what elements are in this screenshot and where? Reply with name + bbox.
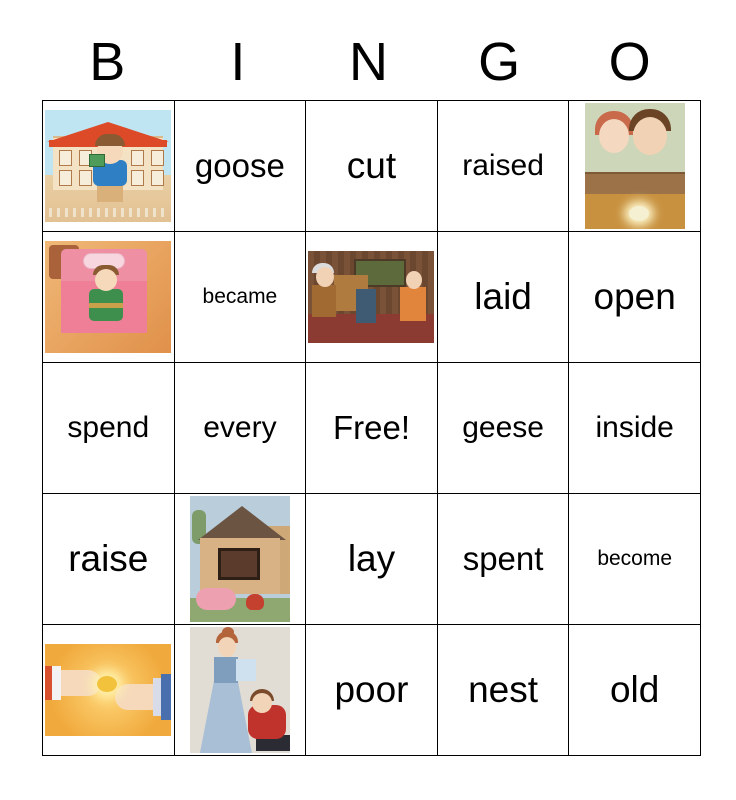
bingo-cell-g2[interactable]: laid	[437, 232, 569, 363]
bingo-row: spend every Free! geese	[43, 363, 701, 494]
bingo-cell-b5[interactable]	[43, 625, 175, 756]
bingo-cell-word: became	[175, 286, 306, 308]
bingo-cell-word: cut	[306, 147, 437, 186]
bingo-cell-word: spend	[43, 412, 174, 444]
bingo-cell-word: goose	[175, 149, 306, 184]
bingo-card: B I N G O	[42, 24, 695, 756]
bingo-cell-word: spent	[438, 542, 569, 577]
barn-with-pig-and-hen-image	[190, 496, 290, 622]
bingo-cell-i3[interactable]: every	[174, 363, 306, 494]
bingo-cell-o5[interactable]: old	[569, 625, 701, 756]
bingo-free-space-label: Free!	[306, 411, 437, 446]
bingo-cell-word: become	[569, 548, 700, 570]
old-man-talking-indoors-image	[308, 251, 434, 343]
bingo-cell-g3[interactable]: geese	[437, 363, 569, 494]
bingo-cell-word: nest	[438, 671, 569, 710]
bingo-cell-g5[interactable]: nest	[437, 625, 569, 756]
bingo-cell-word: open	[569, 278, 700, 317]
couple-looking-at-golden-egg-image	[585, 103, 685, 229]
bingo-header-letter-n: N	[303, 24, 434, 100]
bingo-cell-b4[interactable]: raise	[43, 494, 175, 625]
bingo-header-letter-o: O	[564, 24, 695, 100]
bingo-row: became	[43, 232, 701, 363]
bingo-cell-o2[interactable]: open	[569, 232, 701, 363]
bingo-cell-b1[interactable]	[43, 101, 175, 232]
bingo-cell-word: laid	[438, 278, 569, 317]
bingo-cell-word: geese	[438, 412, 569, 444]
bingo-cell-word: every	[175, 412, 306, 444]
bingo-cell-word: lay	[306, 540, 437, 579]
bingo-cell-o3[interactable]: inside	[569, 363, 701, 494]
bingo-cell-i4[interactable]	[174, 494, 306, 625]
bingo-row: raise	[43, 494, 701, 625]
bingo-cell-n2[interactable]	[306, 232, 438, 363]
bingo-header-letter-i: I	[173, 24, 304, 100]
bingo-cell-n5[interactable]: poor	[306, 625, 438, 756]
bingo-cell-o1[interactable]	[569, 101, 701, 232]
bingo-cell-word: inside	[569, 412, 700, 444]
bingo-cell-o4[interactable]: become	[569, 494, 701, 625]
bingo-header-letter-g: G	[434, 24, 565, 100]
woman-with-kneeling-man-image	[190, 627, 290, 753]
bingo-cell-i5[interactable]	[174, 625, 306, 756]
bingo-cell-free-space[interactable]: Free!	[306, 363, 438, 494]
bingo-cell-i2[interactable]: became	[174, 232, 306, 363]
bingo-cell-word: old	[569, 671, 700, 710]
bingo-header-letter-b: B	[42, 24, 173, 100]
bingo-cell-word: raise	[43, 540, 174, 579]
bingo-cell-n4[interactable]: lay	[306, 494, 438, 625]
bingo-cell-b3[interactable]: spend	[43, 363, 175, 494]
bingo-header-row: B I N G O	[42, 24, 695, 100]
bingo-cell-b2[interactable]	[43, 232, 175, 363]
bingo-row: poor nest old	[43, 625, 701, 756]
man-with-money-at-house-image	[45, 110, 171, 222]
bingo-cell-g1[interactable]: raised	[437, 101, 569, 232]
bingo-cell-i1[interactable]: goose	[174, 101, 306, 232]
bingo-row: goose cut raised	[43, 101, 701, 232]
hands-exchanging-golden-egg-image	[45, 644, 171, 736]
bingo-cell-word: raised	[438, 150, 569, 182]
bingo-cell-g4[interactable]: spent	[437, 494, 569, 625]
man-lying-on-bed-image	[45, 241, 171, 353]
bingo-grid: goose cut raised	[42, 100, 701, 756]
bingo-cell-word: poor	[306, 671, 437, 710]
bingo-cell-n1[interactable]: cut	[306, 101, 438, 232]
